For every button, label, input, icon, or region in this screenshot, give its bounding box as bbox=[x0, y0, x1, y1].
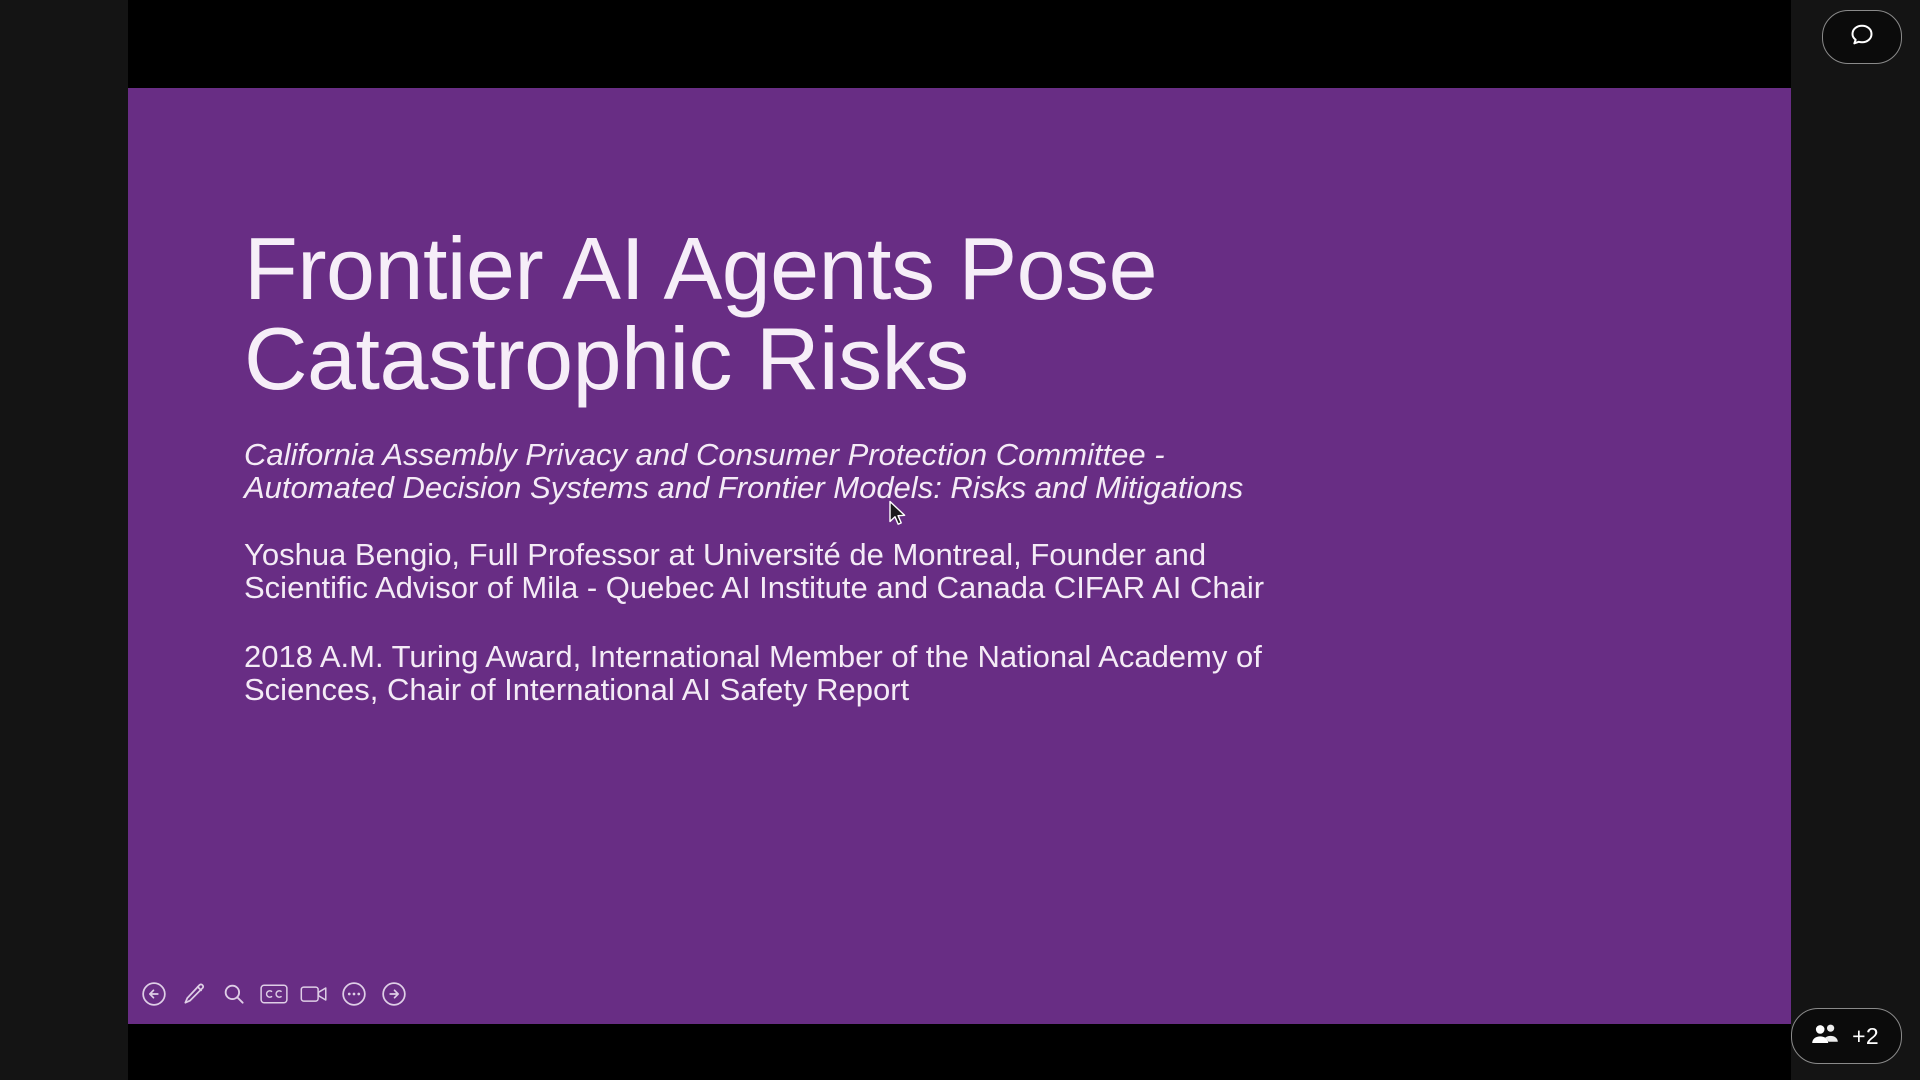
arrow-left-circle-icon bbox=[141, 981, 167, 1007]
participants-count-label: +2 bbox=[1852, 1023, 1879, 1050]
slide-presenter-bio: Yoshua Bengio, Full Professor at Univers… bbox=[244, 538, 1304, 604]
captions-button[interactable] bbox=[258, 978, 290, 1010]
slide-credentials: 2018 A.M. Turing Award, International Me… bbox=[244, 640, 1304, 706]
chat-toggle-button[interactable] bbox=[1822, 10, 1902, 64]
annotate-pen-button[interactable] bbox=[178, 978, 210, 1010]
slide-content: Frontier AI Agents Pose Catastrophic Ris… bbox=[244, 224, 1574, 706]
chat-bubble-icon bbox=[1847, 20, 1877, 55]
zoom-button[interactable] bbox=[218, 978, 250, 1010]
magnifier-icon bbox=[221, 981, 247, 1007]
presentation-slide: Frontier AI Agents Pose Catastrophic Ris… bbox=[128, 88, 1791, 1024]
arrow-right-circle-icon bbox=[381, 981, 407, 1007]
closed-captions-icon bbox=[260, 983, 288, 1005]
slide-title: Frontier AI Agents Pose Catastrophic Ris… bbox=[244, 224, 1574, 404]
previous-slide-button[interactable] bbox=[138, 978, 170, 1010]
pencil-icon bbox=[181, 981, 207, 1007]
slide-subtitle: California Assembly Privacy and Consumer… bbox=[244, 438, 1254, 504]
video-button[interactable] bbox=[298, 978, 330, 1010]
ellipsis-circle-icon bbox=[341, 981, 367, 1007]
video-camera-icon bbox=[300, 983, 328, 1005]
meeting-screen-share-view: Frontier AI Agents Pose Catastrophic Ris… bbox=[0, 0, 1920, 1080]
more-options-button[interactable] bbox=[338, 978, 370, 1010]
next-slide-button[interactable] bbox=[378, 978, 410, 1010]
people-icon bbox=[1810, 1022, 1840, 1051]
participants-badge[interactable]: +2 bbox=[1791, 1008, 1902, 1064]
presentation-toolbar bbox=[134, 976, 414, 1012]
